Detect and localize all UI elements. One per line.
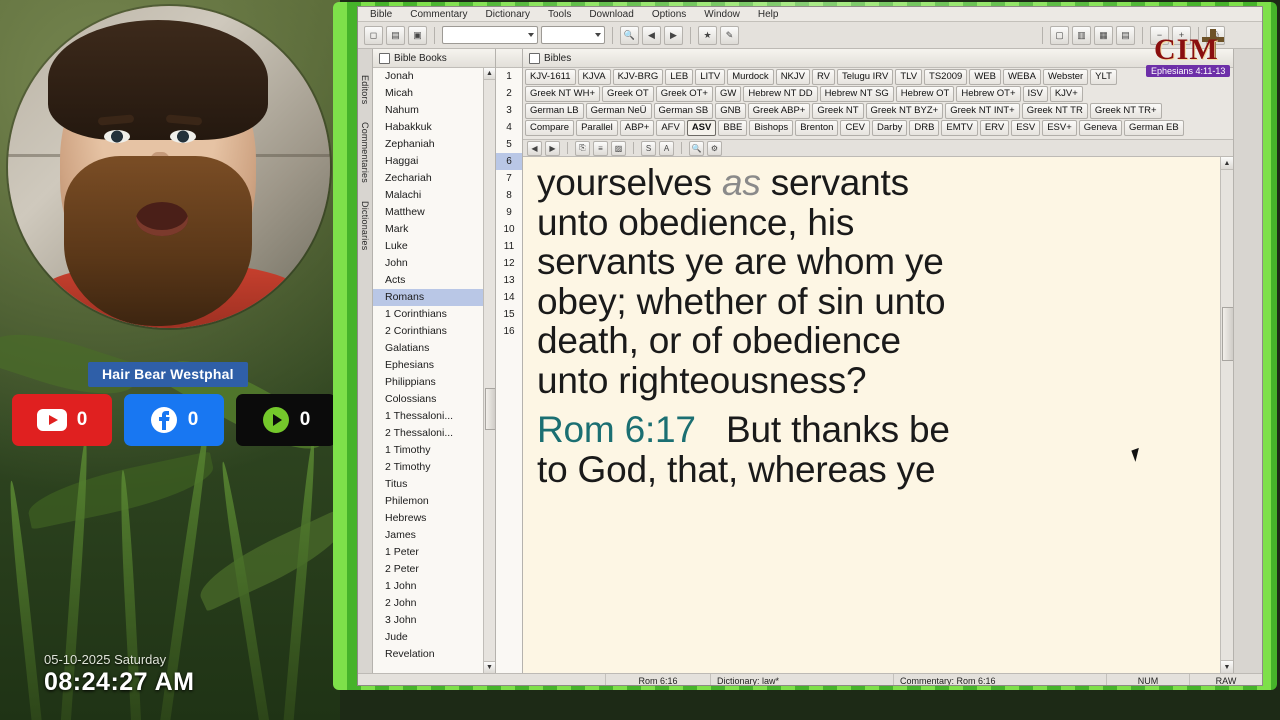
verse-line: unto obedience, his <box>537 203 1205 243</box>
bible-version-german-sb[interactable]: German SB <box>654 103 714 119</box>
bible-version-greek-ot-[interactable]: Greek OT+ <box>656 86 713 102</box>
bible-version-tlv[interactable]: TLV <box>895 69 922 85</box>
book-item[interactable]: Mark <box>373 221 495 238</box>
chapter-item[interactable]: 6 <box>496 153 522 170</box>
bible-version-kjv-brg[interactable]: KJV-BRG <box>613 69 664 85</box>
bible-version-greek-nt-byz-[interactable]: Greek NT BYZ+ <box>866 103 944 119</box>
bible-version-row: KJV-1611KJVAKJV-BRGLEBLITVMurdockNKJVRVT… <box>525 69 1231 85</box>
highlight-icon[interactable]: ▨ <box>611 141 626 156</box>
bible-version-leb[interactable]: LEB <box>665 69 693 85</box>
book-item[interactable]: Zephaniah <box>373 136 495 153</box>
overlay-date: 05-10-2025 Saturday <box>44 652 166 667</box>
open-icon[interactable]: ▤ <box>386 26 405 45</box>
note-icon[interactable]: ✎ <box>720 26 739 45</box>
book-item[interactable]: James <box>373 527 495 544</box>
book-item[interactable]: Ephesians <box>373 357 495 374</box>
bible-version-gw[interactable]: GW <box>715 86 741 102</box>
bible-version-hebrew-ot[interactable]: Hebrew OT <box>896 86 955 102</box>
social-counters: 0 0 0 <box>12 394 336 446</box>
layout-tabs-icon[interactable]: ▤ <box>1116 26 1135 45</box>
chapter-item[interactable]: 7 <box>496 170 522 187</box>
bible-version-ts2009[interactable]: TS2009 <box>924 69 967 85</box>
bible-version-greek-nt-wh-[interactable]: Greek NT WH+ <box>525 86 600 102</box>
bibles-header: Bibles <box>523 49 1233 68</box>
save-icon[interactable]: ▣ <box>408 26 427 45</box>
verse-line: to God, that, whereas ye <box>537 450 1205 490</box>
bible-version-geneva[interactable]: Geneva <box>1079 120 1122 136</box>
cim-logo-text: CIM <box>1154 33 1219 67</box>
bible-version-abp-[interactable]: ABP+ <box>620 120 655 136</box>
back-icon[interactable]: ◀ <box>642 26 661 45</box>
verse-line: servants ye are whom ye <box>537 242 1205 282</box>
bible-version-greek-nt-tr[interactable]: Greek NT TR <box>1022 103 1088 119</box>
books-scroll-thumb[interactable] <box>485 388 495 430</box>
book-item[interactable]: 3 John <box>373 612 495 629</box>
chevron-down-icon <box>528 33 534 37</box>
bible-version-esv[interactable]: ESV <box>1011 120 1040 136</box>
chapter-item[interactable]: 15 <box>496 306 522 323</box>
status-raw: RAW <box>1190 674 1262 686</box>
menu-bible[interactable]: Bible <box>370 9 392 20</box>
bible-version-hebrew-nt-dd[interactable]: Hebrew NT DD <box>743 86 817 102</box>
bible-icon <box>529 53 540 64</box>
verse-reference[interactable]: Rom 6:17 <box>537 409 696 450</box>
menu-bar: Bible Commentary Dictionary Tools Downlo… <box>358 7 1262 22</box>
prev-verse-icon[interactable]: ◀ <box>527 141 542 156</box>
menu-tools[interactable]: Tools <box>548 9 571 20</box>
chapter-item[interactable]: 3 <box>496 102 522 119</box>
forward-icon[interactable]: ▶ <box>664 26 683 45</box>
bible-books-panel: Bible Books ▲ ▼ JonahMicahNahumHabakkukZ… <box>373 49 496 673</box>
chapter-item[interactable]: 13 <box>496 272 522 289</box>
scroll-up-icon[interactable]: ▲ <box>484 68 495 80</box>
secondary-combo[interactable] <box>541 26 605 44</box>
bible-version-isv[interactable]: ISV <box>1023 86 1048 102</box>
verse-line: yourselves as servants <box>537 163 1205 203</box>
youtube-counter[interactable]: 0 <box>12 394 112 446</box>
chapter-item[interactable]: 2 <box>496 85 522 102</box>
copy-icon[interactable]: ⎘ <box>575 141 590 156</box>
chapter-panel: 12345678910111213141516 <box>496 49 523 673</box>
bible-version-emtv[interactable]: EMTV <box>941 120 977 136</box>
chapter-list[interactable]: 12345678910111213141516 <box>496 68 522 340</box>
right-panel-strip <box>1233 49 1262 673</box>
bible-version-row: Greek NT WH+Greek OTGreek OT+GWHebrew NT… <box>525 86 1231 102</box>
bookmark-icon[interactable]: ★ <box>698 26 717 45</box>
screen-stage: Hair Bear Westphal 0 0 0 05-10- <box>0 0 1280 720</box>
bible-version-kjva[interactable]: KJVA <box>578 69 611 85</box>
bible-version-greek-abp-[interactable]: Greek ABP+ <box>748 103 811 119</box>
bible-version-greek-nt[interactable]: Greek NT <box>812 103 863 119</box>
facebook-count: 0 <box>188 409 199 431</box>
bible-version-compare[interactable]: Compare <box>525 120 574 136</box>
verse-scroll-thumb[interactable] <box>1222 307 1233 361</box>
book-item[interactable]: Jude <box>373 629 495 646</box>
verse-text: yourselves as servantsunto obedience, hi… <box>537 163 1205 490</box>
bible-version-brenton[interactable]: Brenton <box>795 120 838 136</box>
menu-window[interactable]: Window <box>704 9 740 20</box>
layout-single-icon[interactable]: ▢ <box>1050 26 1069 45</box>
bible-version-bbe[interactable]: BBE <box>718 120 747 136</box>
menu-commentary[interactable]: Commentary <box>410 9 467 20</box>
font-size-icon[interactable]: A <box>659 141 674 156</box>
bible-version-row: German LBGerman NeÜGerman SBGNBGreek ABP… <box>525 103 1231 119</box>
book-item[interactable]: 1 Corinthians <box>373 306 495 323</box>
book-item[interactable]: Luke <box>373 238 495 255</box>
book-item[interactable]: John <box>373 255 495 272</box>
book-item[interactable]: Malachi <box>373 187 495 204</box>
bible-version-tabs[interactable]: KJV-1611KJVAKJV-BRGLEBLITVMurdockNKJVRVT… <box>523 68 1233 140</box>
book-item[interactable]: Romans <box>373 289 495 306</box>
bible-books-title: Bible Books <box>394 53 447 64</box>
book-item[interactable]: 2 Thessaloni... <box>373 425 495 442</box>
list-icon[interactable]: ≡ <box>593 141 608 156</box>
bible-version-drb[interactable]: DRB <box>909 120 939 136</box>
bibles-title: Bibles <box>544 53 571 64</box>
book-item[interactable]: Titus <box>373 476 495 493</box>
chapter-item[interactable]: 1 <box>496 68 522 85</box>
next-verse-icon[interactable]: ▶ <box>545 141 560 156</box>
books-scrollbar[interactable]: ▲ ▼ <box>483 68 495 673</box>
new-icon[interactable]: ◻ <box>364 26 383 45</box>
verse-toolbar: ◀ ▶ ⎘ ≡ ▨ S A 🔍 ⚙ <box>523 140 1233 157</box>
facebook-icon <box>150 406 178 434</box>
bible-version-german-eb[interactable]: German EB <box>1124 120 1184 136</box>
bible-version-greek-nt-int-[interactable]: Greek NT INT+ <box>945 103 1020 119</box>
book-item[interactable]: Acts <box>373 272 495 289</box>
bible-version-cev[interactable]: CEV <box>840 120 870 136</box>
book-item[interactable]: 2 Peter <box>373 561 495 578</box>
chapter-item[interactable]: 14 <box>496 289 522 306</box>
search-icon[interactable]: 🔍 <box>620 26 639 45</box>
verse-settings-icon[interactable]: ⚙ <box>707 141 722 156</box>
bible-version-bishops[interactable]: Bishops <box>749 120 793 136</box>
status-bar: Rom 6:16 Dictionary: law* Commentary: Ro… <box>358 673 1262 686</box>
scroll-down-icon[interactable]: ▼ <box>1221 660 1233 673</box>
verse-reference-line: Rom 6:17 But thanks be <box>537 410 1205 450</box>
left-vertical-tabs: Editors Commentaries Dictionaries <box>358 49 373 673</box>
chapter-item[interactable]: 10 <box>496 221 522 238</box>
chapter-item[interactable]: 8 <box>496 187 522 204</box>
book-item[interactable]: Micah <box>373 85 495 102</box>
webcam-background: Hair Bear Westphal 0 0 0 05-10- <box>0 0 340 720</box>
youtube-icon <box>37 409 67 431</box>
book-item[interactable]: Zechariah <box>373 170 495 187</box>
bible-version-webster[interactable]: Webster <box>1043 69 1088 85</box>
book-item[interactable]: Philemon <box>373 493 495 510</box>
reference-combo[interactable] <box>442 26 538 44</box>
book-item[interactable]: 2 Corinthians <box>373 323 495 340</box>
bible-version-asv[interactable]: ASV <box>687 120 717 136</box>
rumble-count: 0 <box>300 409 311 431</box>
book-item[interactable]: Matthew <box>373 204 495 221</box>
bible-version-parallel[interactable]: Parallel <box>576 120 618 136</box>
book-item[interactable]: Revelation <box>373 646 495 663</box>
menu-dictionary[interactable]: Dictionary <box>486 9 530 20</box>
bible-version-telugu-irv[interactable]: Telugu IRV <box>837 69 893 85</box>
bible-version-murdock[interactable]: Murdock <box>727 69 773 85</box>
status-num: NUM <box>1107 674 1190 686</box>
bible-version-weba[interactable]: WEBA <box>1003 69 1041 85</box>
status-blank <box>358 674 606 686</box>
book-item[interactable]: Galatians <box>373 340 495 357</box>
bible-version-german-ne-[interactable]: German NeÜ <box>586 103 652 119</box>
cim-logo: CIM Ephesians 4:11-13 <box>1138 29 1258 85</box>
overlay-clock: 08:24:27 AM <box>44 668 194 697</box>
streamer-name-plate: Hair Bear Westphal <box>88 362 248 387</box>
book-item[interactable]: 1 Peter <box>373 544 495 561</box>
verse-line: death, or of obedience <box>537 321 1205 361</box>
bible-version-german-lb[interactable]: German LB <box>525 103 584 119</box>
window-body: Editors Commentaries Dictionaries Bible … <box>358 49 1262 673</box>
chapter-item[interactable]: 4 <box>496 119 522 136</box>
menu-options[interactable]: Options <box>652 9 686 20</box>
cim-logo-reference: Ephesians 4:11-13 <box>1146 65 1230 77</box>
scroll-up-icon[interactable]: ▲ <box>1221 157 1233 170</box>
verse-line: obey; whether of sin unto <box>537 282 1205 322</box>
layout-split-icon[interactable]: ▥ <box>1072 26 1091 45</box>
scroll-down-icon[interactable]: ▼ <box>484 661 495 673</box>
book-item[interactable]: 2 John <box>373 595 495 612</box>
book-item[interactable]: Colossians <box>373 391 495 408</box>
bible-version-kjv-[interactable]: KJV+ <box>1050 86 1083 102</box>
bible-version-litv[interactable]: LITV <box>695 69 725 85</box>
bible-version-esv-[interactable]: ESV+ <box>1042 120 1077 136</box>
verse-scrollbar[interactable]: ▲ ▼ <box>1220 157 1233 673</box>
bible-text-panel: Bibles KJV-1611KJVAKJV-BRGLEBLITVMurdock… <box>523 49 1233 673</box>
status-verse: Rom 6:16 <box>606 674 711 686</box>
book-item[interactable]: Hebrews <box>373 510 495 527</box>
bible-version-ylt[interactable]: YLT <box>1090 69 1117 85</box>
bible-application-window: Bible Commentary Dictionary Tools Downlo… <box>357 6 1263 686</box>
main-toolbar: ◻ ▤ ▣ 🔍 ◀ ▶ ★ ✎ ▢ ▥ ▦ ▤ − + <box>358 22 1262 49</box>
chapter-item[interactable]: 12 <box>496 255 522 272</box>
youtube-count: 0 <box>77 409 88 431</box>
book-item[interactable]: 1 Timothy <box>373 442 495 459</box>
facebook-counter[interactable]: 0 <box>124 394 224 446</box>
bible-version-nkjv[interactable]: NKJV <box>776 69 810 85</box>
verse-search-icon[interactable]: 🔍 <box>689 141 704 156</box>
book-icon <box>379 53 390 64</box>
book-item[interactable]: Nahum <box>373 102 495 119</box>
verse-italic-word: as <box>722 162 761 203</box>
strongs-icon[interactable]: S <box>641 141 656 156</box>
bible-books-header: Bible Books <box>373 49 495 68</box>
bible-version-erv[interactable]: ERV <box>980 120 1009 136</box>
bible-version-afv[interactable]: AFV <box>656 120 684 136</box>
status-dictionary: Dictionary: law* <box>711 674 894 686</box>
bible-version-rv[interactable]: RV <box>812 69 835 85</box>
chapter-item[interactable]: 9 <box>496 204 522 221</box>
bible-version-greek-ot[interactable]: Greek OT <box>602 86 654 102</box>
bible-version-hebrew-ot-[interactable]: Hebrew OT+ <box>956 86 1020 102</box>
menu-help[interactable]: Help <box>758 9 779 20</box>
status-commentary: Commentary: Rom 6:16 <box>894 674 1107 686</box>
vtab-dictionaries[interactable]: Dictionaries <box>360 201 370 250</box>
verse-display-area[interactable]: yourselves as servantsunto obedience, hi… <box>523 157 1233 673</box>
bible-version-kjv-1611[interactable]: KJV-1611 <box>525 69 576 85</box>
book-item[interactable]: 2 Timothy <box>373 459 495 476</box>
chevron-down-icon <box>595 33 601 37</box>
bible-books-list[interactable]: ▲ ▼ JonahMicahNahumHabakkukZephaniahHagg… <box>373 68 495 673</box>
menu-download[interactable]: Download <box>589 9 633 20</box>
book-item[interactable]: 1 Thessaloni... <box>373 408 495 425</box>
chapter-item[interactable]: 16 <box>496 323 522 340</box>
bible-version-hebrew-nt-sg[interactable]: Hebrew NT SG <box>820 86 894 102</box>
chapter-item[interactable]: 11 <box>496 238 522 255</box>
chapter-header <box>496 49 522 68</box>
vtab-editors[interactable]: Editors <box>360 75 370 104</box>
bible-version-darby[interactable]: Darby <box>872 120 907 136</box>
bible-version-gnb[interactable]: GNB <box>715 103 746 119</box>
webcam-video <box>8 6 330 328</box>
book-item[interactable]: Philippians <box>373 374 495 391</box>
book-item[interactable]: Haggai <box>373 153 495 170</box>
bible-version-row: CompareParallelABP+AFVASVBBEBishopsBrent… <box>525 120 1231 136</box>
book-item[interactable]: Habakkuk <box>373 119 495 136</box>
rumble-counter[interactable]: 0 <box>236 394 336 446</box>
book-item[interactable]: Jonah <box>373 68 495 85</box>
vtab-commentaries[interactable]: Commentaries <box>360 122 370 183</box>
chapter-item[interactable]: 5 <box>496 136 522 153</box>
rumble-icon <box>262 406 290 434</box>
verse-line: unto righteousness? <box>537 361 1205 401</box>
book-item[interactable]: 1 John <box>373 578 495 595</box>
bible-version-web[interactable]: WEB <box>969 69 1001 85</box>
bible-version-greek-nt-tr-[interactable]: Greek NT TR+ <box>1090 103 1162 119</box>
layout-grid-icon[interactable]: ▦ <box>1094 26 1113 45</box>
